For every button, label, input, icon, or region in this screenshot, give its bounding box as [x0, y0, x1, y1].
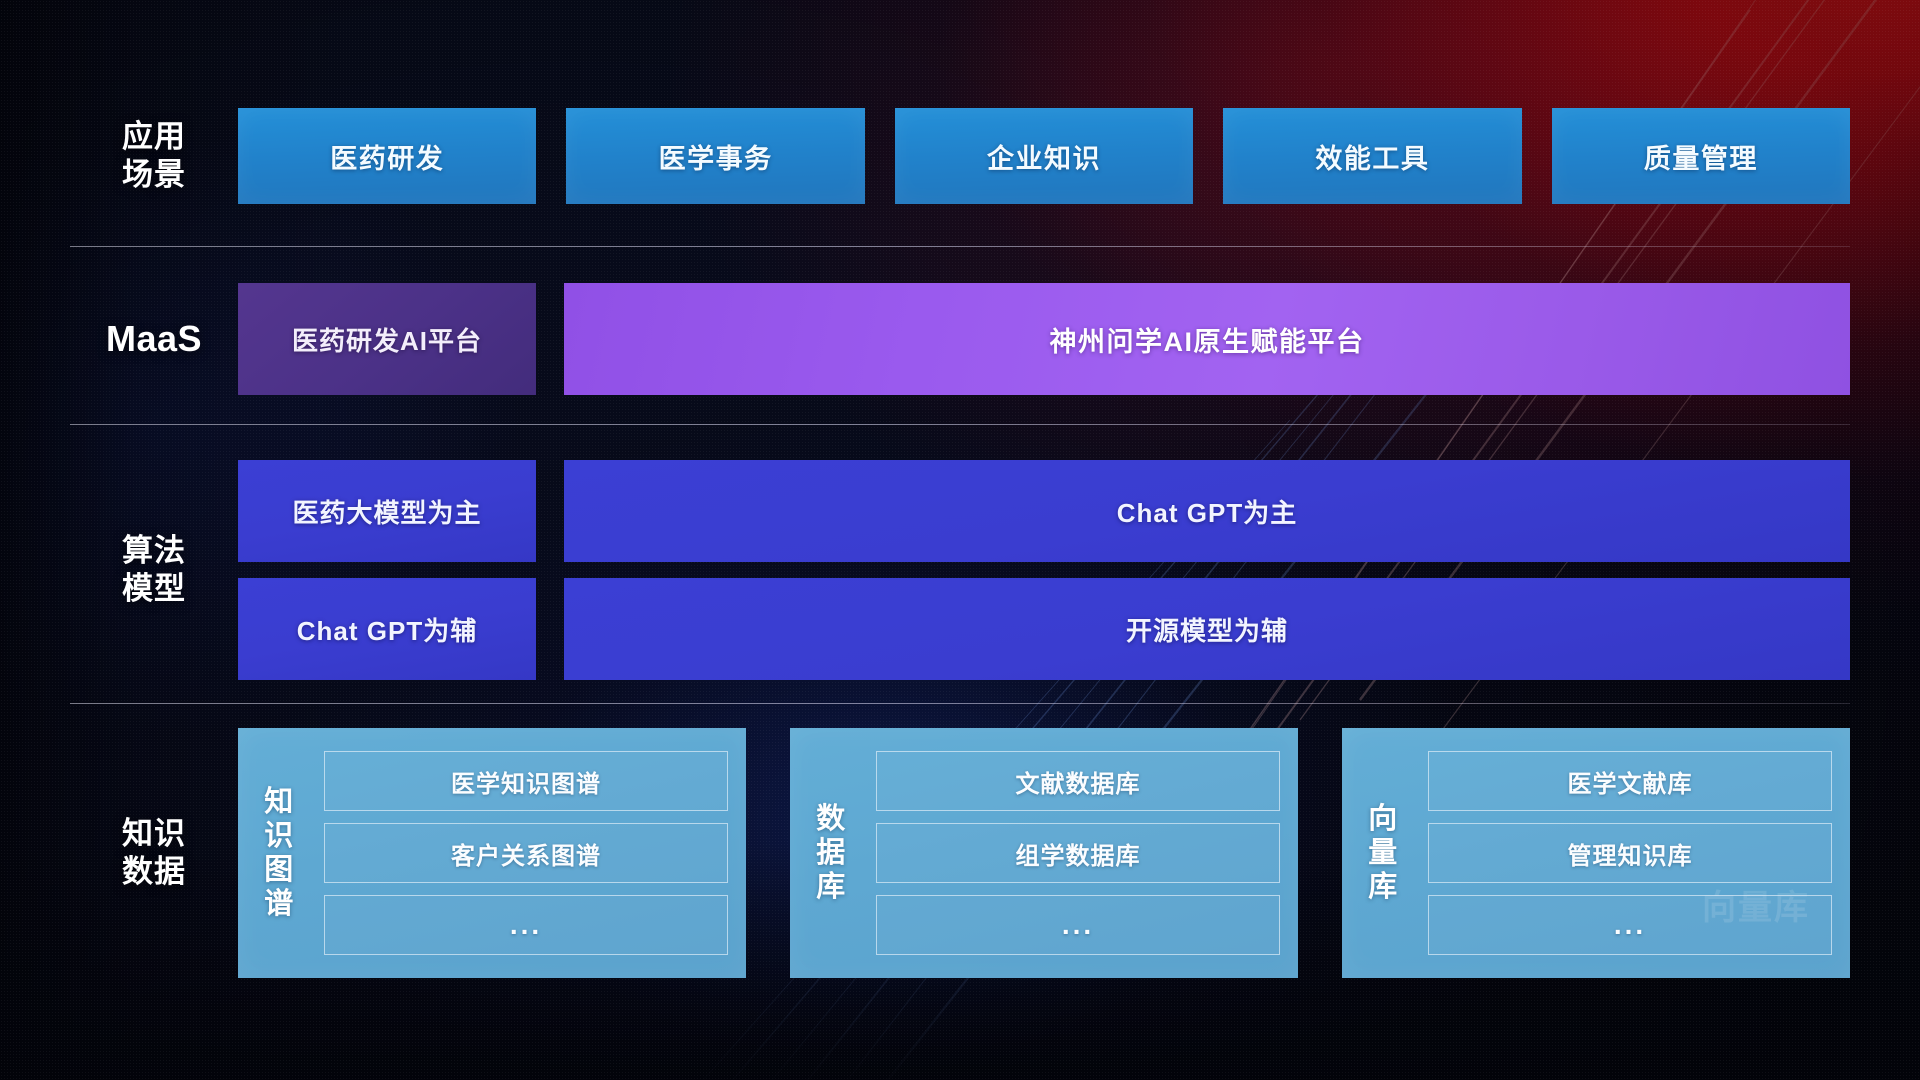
- knowledge-item-management-knowledge-store[interactable]: 管理知识库: [1428, 823, 1832, 883]
- algorithm-row-primary: 医药大模型为主 Chat GPT为主: [238, 460, 1850, 562]
- architecture-diagram: 应用 场景 医药研发 医学事务 企业知识 效能工具 质量管理 MaaS 医药研发…: [0, 0, 1920, 1080]
- vertical-char: 数: [816, 802, 846, 836]
- algorithm-card-opensource-secondary[interactable]: 开源模型为辅: [564, 578, 1850, 680]
- knowledge-item-more[interactable]: ...: [876, 895, 1280, 955]
- vertical-char: 向: [1368, 802, 1398, 836]
- algorithm-row-secondary: Chat GPT为辅 开源模型为辅: [238, 578, 1850, 680]
- knowledge-item-list: 医学文献库 管理知识库 ...: [1414, 742, 1832, 964]
- knowledge-group-label-knowledge-graph: 知 识 图 谱: [248, 742, 310, 964]
- tier-algorithm-model: 算法 模型 医药大模型为主 Chat GPT为主 Chat GPT为辅 开源模型…: [70, 460, 1850, 680]
- tier-label-knowledge-data: 知识 数据: [70, 815, 238, 891]
- tier-application-scenarios: 应用 场景 医药研发 医学事务 企业知识 效能工具 质量管理: [70, 108, 1850, 204]
- app-card-enterprise-knowledge[interactable]: 企业知识: [895, 108, 1193, 204]
- knowledge-item-list: 文献数据库 组学数据库 ...: [862, 742, 1280, 964]
- knowledge-group-knowledge-graph[interactable]: 知 识 图 谱 医学知识图谱 客户关系图谱 ...: [238, 728, 746, 978]
- algorithm-rows: 医药大模型为主 Chat GPT为主 Chat GPT为辅 开源模型为辅: [238, 460, 1850, 680]
- vertical-char: 据: [816, 836, 846, 870]
- knowledge-group-label-database: 数 据 库: [800, 742, 862, 964]
- app-card-efficiency-tools[interactable]: 效能工具: [1223, 108, 1521, 204]
- maas-card-pharma-ai-platform[interactable]: 医药研发AI平台: [238, 283, 536, 395]
- app-card-medical-affairs[interactable]: 医学事务: [566, 108, 864, 204]
- knowledge-item-omics-database[interactable]: 组学数据库: [876, 823, 1280, 883]
- maas-card-shenzhou-wenxue-platform[interactable]: 神州问学AI原生赋能平台: [564, 283, 1850, 395]
- divider-apps-maas: [70, 246, 1850, 247]
- vertical-char: 库: [1368, 870, 1398, 904]
- algorithm-card-chatgpt-secondary[interactable]: Chat GPT为辅: [238, 578, 536, 680]
- application-card-list: 医药研发 医学事务 企业知识 效能工具 质量管理: [238, 108, 1850, 204]
- knowledge-item-list: 医学知识图谱 客户关系图谱 ...: [310, 742, 728, 964]
- algorithm-card-pharma-llm-primary[interactable]: 医药大模型为主: [238, 460, 536, 562]
- tier-label-maas: MaaS: [70, 317, 238, 361]
- tier-label-algorithm-model: 算法 模型: [70, 532, 238, 608]
- tier-maas: MaaS 医药研发AI平台 神州问学AI原生赋能平台: [70, 283, 1850, 395]
- tier-knowledge-data: 知识 数据 知 识 图 谱 医学知识图谱 客户关系图谱 ...: [70, 728, 1850, 978]
- knowledge-item-more[interactable]: ...: [324, 895, 728, 955]
- knowledge-item-customer-relation-graph[interactable]: 客户关系图谱: [324, 823, 728, 883]
- knowledge-group-label-vector-store: 向 量 库: [1352, 742, 1414, 964]
- knowledge-item-literature-database[interactable]: 文献数据库: [876, 751, 1280, 811]
- algorithm-card-chatgpt-primary[interactable]: Chat GPT为主: [564, 460, 1850, 562]
- vertical-char: 谱: [264, 887, 294, 921]
- knowledge-item-more[interactable]: ...: [1428, 895, 1832, 955]
- knowledge-group-list: 知 识 图 谱 医学知识图谱 客户关系图谱 ... 数 据: [238, 728, 1850, 978]
- knowledge-group-vector-store[interactable]: 向 量 库 向量库 医学文献库 管理知识库 ...: [1342, 728, 1850, 978]
- vertical-char: 库: [816, 870, 846, 904]
- vertical-char: 识: [264, 819, 294, 853]
- maas-platform-list: 医药研发AI平台 神州问学AI原生赋能平台: [238, 283, 1850, 395]
- divider-algorithm-knowledge: [70, 703, 1850, 704]
- app-card-medicine-rnd[interactable]: 医药研发: [238, 108, 536, 204]
- tier-label-application-scenarios: 应用 场景: [70, 118, 238, 194]
- knowledge-item-medical-literature-store[interactable]: 医学文献库: [1428, 751, 1832, 811]
- vertical-char: 知: [264, 785, 294, 819]
- vertical-char: 量: [1368, 836, 1398, 870]
- vertical-char: 图: [264, 853, 294, 887]
- divider-maas-algorithm: [70, 424, 1850, 425]
- app-card-quality-management[interactable]: 质量管理: [1552, 108, 1850, 204]
- knowledge-group-database[interactable]: 数 据 库 文献数据库 组学数据库 ...: [790, 728, 1298, 978]
- slide-canvas: 应用 场景 医药研发 医学事务 企业知识 效能工具 质量管理 MaaS 医药研发…: [0, 0, 1920, 1080]
- knowledge-item-medical-knowledge-graph[interactable]: 医学知识图谱: [324, 751, 728, 811]
